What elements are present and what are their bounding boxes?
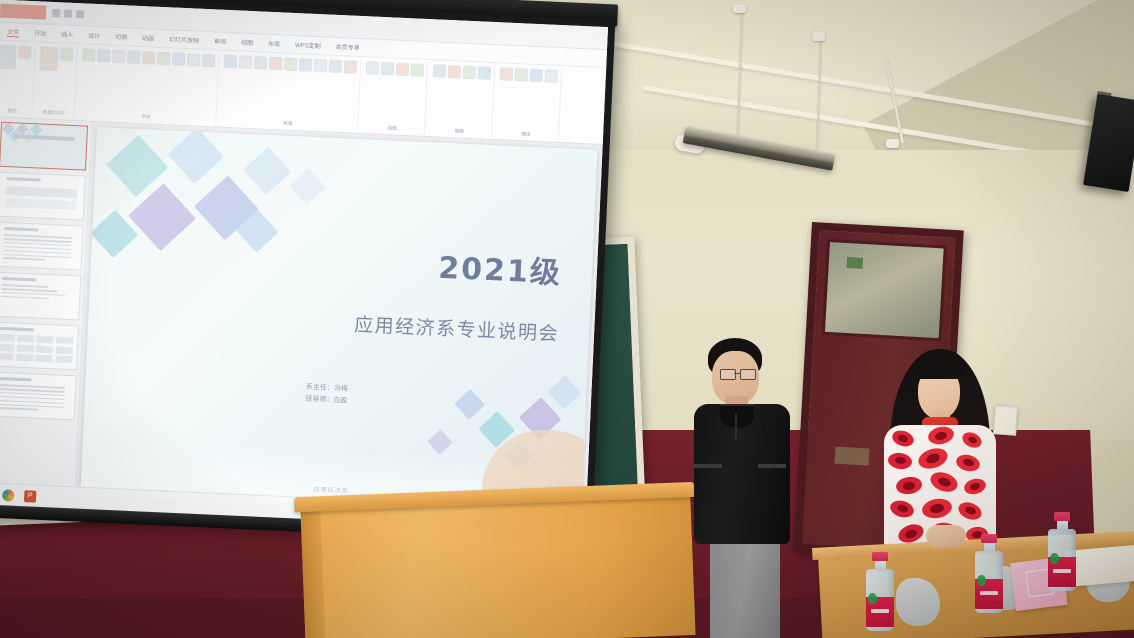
ribbon-tab-9[interactable]: 布局	[268, 39, 280, 49]
ribbon-group-label: 输出	[521, 131, 530, 137]
light-ceiling-mount	[812, 32, 825, 41]
active-slide: 2021级 应用经济系专业说明会 系主任：冯梅班导师：白盈 应用经济系	[80, 127, 597, 520]
thumbnail-table-cell	[17, 335, 34, 343]
woman-clasped-hands	[926, 525, 966, 547]
water-bottle[interactable]	[1048, 512, 1076, 591]
ribbon-button-icon[interactable]	[60, 47, 74, 61]
ribbon-button-icon[interactable]	[157, 52, 171, 66]
slide-thumbnail-1[interactable]: 1	[0, 121, 88, 170]
bottle-body	[866, 569, 894, 631]
ribbon-tab-10[interactable]: WPS定制	[295, 40, 321, 50]
quick-access-toolbar[interactable]	[52, 9, 84, 18]
thumbnail-text-line	[0, 407, 38, 410]
ribbon-button-icon[interactable]	[112, 50, 126, 64]
ribbon-button-icon[interactable]	[329, 60, 343, 74]
ribbon-group-6[interactable]: 输出	[494, 65, 562, 140]
ribbon-button-icon[interactable]	[463, 66, 477, 80]
slide-editor[interactable]: 2021级 应用经济系专业说明会 系主任：冯梅班导师：白盈 应用经济系	[75, 122, 603, 526]
media-icon[interactable]	[2, 489, 15, 502]
ribbon-button-icon[interactable]	[381, 62, 395, 76]
ribbon-tab-0[interactable]: 文件	[7, 26, 19, 37]
ribbon-button-icon[interactable]	[224, 55, 238, 69]
ribbon-button-icon[interactable]	[344, 60, 358, 74]
ribbon-button-icon[interactable]	[39, 46, 58, 71]
ribbon-button-icon[interactable]	[478, 66, 492, 80]
ribbon-tab-7[interactable]: 审阅	[214, 36, 226, 46]
ribbon-group-4[interactable]: 绘图	[360, 59, 428, 134]
ribbon-tab-8[interactable]: 视图	[241, 38, 253, 48]
ribbon-button-icon[interactable]	[254, 56, 268, 70]
ribbon-button-icon[interactable]	[284, 58, 298, 72]
slide-thumbnail-6[interactable]: 6	[0, 371, 77, 420]
ribbon-button-icon[interactable]	[433, 64, 447, 78]
man-sleeve-trim	[694, 464, 722, 468]
person-man	[686, 338, 796, 638]
slide-thumbnail-4[interactable]: 4	[0, 271, 81, 320]
ribbon-button-icon[interactable]	[142, 51, 156, 65]
thumbnail-table-cell	[0, 353, 14, 361]
ribbon-button-icon[interactable]	[18, 45, 32, 59]
ribbon-button-icon[interactable]	[127, 50, 141, 64]
thumbnail-preview	[0, 272, 81, 321]
thumbnail-header-line	[4, 227, 38, 231]
ribbon-button-icon[interactable]	[529, 69, 543, 83]
ribbon-group-0[interactable]: 粘贴	[0, 42, 36, 116]
thumbnail-table-cell	[55, 346, 72, 354]
ribbon-button-icon[interactable]	[448, 65, 462, 79]
powerpoint-icon[interactable]: P	[24, 490, 37, 503]
man-pants	[710, 538, 780, 638]
bottle-neck	[1057, 521, 1068, 529]
thumbnail-table-cell	[56, 337, 73, 345]
ribbon-button-icon[interactable]	[187, 53, 201, 67]
ribbon-tab-4[interactable]: 切换	[115, 32, 127, 42]
light-ceiling-mount	[733, 4, 746, 13]
thumbnail-band	[5, 198, 77, 211]
bottle-cap	[981, 534, 997, 543]
slide-thumbnail-5[interactable]: 5	[0, 321, 79, 370]
powerpoint-logo-icon	[0, 4, 46, 20]
thumbnail-text-line	[1, 296, 49, 300]
cable-anchor	[886, 139, 899, 148]
thumbnail-text-line	[1, 284, 49, 288]
thumbnail-table-cell	[16, 344, 33, 352]
bottle-body	[975, 551, 1003, 613]
ribbon-tab-2[interactable]: 插入	[61, 29, 73, 39]
ribbon-group-label: 粘贴	[7, 108, 16, 114]
ribbon-tab-3[interactable]: 设计	[88, 31, 100, 41]
slide-thumbnail-3[interactable]: 3	[0, 221, 84, 270]
water-bottle[interactable]	[975, 534, 1003, 613]
ribbon-tab-11[interactable]: 会员专享	[336, 42, 360, 52]
bottle-body	[1048, 529, 1076, 591]
ribbon-button-icon[interactable]	[269, 57, 283, 71]
ribbon-button-icon[interactable]	[544, 69, 558, 83]
bottle-neck	[984, 543, 995, 551]
ribbon-group-label: 段落	[283, 121, 292, 127]
thumbnail-preview	[0, 322, 79, 371]
thumbnail-header-line	[0, 377, 31, 381]
thumbnail-preview	[0, 371, 77, 420]
door-kick-plate	[835, 447, 870, 466]
man-shirt-placket	[735, 414, 737, 440]
ribbon-button-icon[interactable]	[515, 68, 529, 82]
ribbon-group-5[interactable]: 编辑	[427, 62, 495, 137]
thumbnail-header-line	[2, 277, 36, 281]
exit-sign-icon	[846, 257, 863, 269]
glasses-icon	[720, 369, 756, 378]
projected-image: 文件开始插入设计切换动画幻灯片放映审阅视图布局WPS定制会员专享 粘贴新建幻灯片…	[0, 0, 608, 533]
thumbnail-header-line	[0, 327, 34, 331]
thumbnail-table-cell	[36, 345, 53, 353]
thumbnail-text-line	[3, 257, 46, 260]
man-collar	[720, 404, 754, 428]
ribbon-button-icon[interactable]	[366, 61, 380, 75]
ribbon-button-icon[interactable]	[314, 59, 328, 73]
ribbon-button-icon[interactable]	[0, 45, 17, 70]
save-icon[interactable]	[52, 9, 60, 17]
bottle-label	[975, 579, 1003, 609]
ppt-workspace: 123456	[0, 117, 603, 525]
ribbon-button-icon[interactable]	[299, 58, 313, 72]
ribbon-button-icon[interactable]	[172, 52, 186, 66]
thumbnail-preview	[0, 172, 86, 221]
bottle-neck	[875, 561, 886, 569]
ribbon-tab-6[interactable]: 幻灯片放映	[169, 34, 199, 44]
classroom-photo-scene: 文件开始插入设计切换动画幻灯片放映审阅视图布局WPS定制会员专享 粘贴新建幻灯片…	[0, 0, 1134, 638]
slide-thumbnail-2[interactable]: 2	[0, 171, 86, 220]
thumbnail-band	[6, 186, 78, 198]
ribbon-button-icon[interactable]	[202, 54, 216, 68]
bottle-label	[866, 597, 894, 627]
ribbon-button-icon[interactable]	[82, 48, 96, 62]
bottle-cap	[1054, 512, 1070, 521]
thumbnail-table-cell	[35, 355, 52, 363]
cloth-bundle	[896, 578, 940, 626]
powerpoint-window: 文件开始插入设计切换动画幻灯片放映审阅视图布局WPS定制会员专享 粘贴新建幻灯片…	[0, 0, 608, 533]
undo-icon[interactable]	[64, 9, 72, 17]
ribbon-button-icon[interactable]	[500, 67, 514, 81]
ribbon-group-2[interactable]: 字体	[76, 46, 219, 124]
woman-bangs	[912, 357, 967, 379]
projector-screen: 文件开始插入设计切换动画幻灯片放映审阅视图布局WPS定制会员专享 粘贴新建幻灯片…	[0, 0, 615, 554]
man-sleeve-trim	[758, 464, 786, 468]
thumbnail-header-line	[6, 177, 40, 181]
thumbnail-table-cell	[16, 354, 33, 362]
thumbnail-preview	[0, 122, 88, 171]
thumbnail-preview	[0, 222, 84, 271]
bottle-cap	[872, 552, 888, 561]
ribbon-group-label: 绘图	[388, 125, 397, 131]
ribbon-group-label: 字体	[141, 114, 150, 120]
ribbon-tab-1[interactable]: 开始	[34, 28, 46, 38]
bottle-label	[1048, 557, 1076, 587]
wooden-podium	[300, 482, 697, 638]
ribbon-tab-5[interactable]: 动画	[142, 33, 154, 43]
ribbon-group-1[interactable]: 新建幻灯片	[34, 44, 77, 118]
ribbon-button-icon[interactable]	[97, 49, 111, 63]
ribbon-group-label: 新建幻灯片	[43, 110, 66, 117]
ribbon-button-icon[interactable]	[411, 63, 425, 77]
redo-icon[interactable]	[76, 10, 84, 18]
thumbnail-table-cell	[55, 356, 72, 364]
screen-frame: 文件开始插入设计切换动画幻灯片放映审阅视图布局WPS定制会员专享 粘贴新建幻灯片…	[0, 0, 615, 540]
thumbnail-table-cell	[0, 343, 14, 351]
podium-front-panel	[300, 495, 695, 638]
ribbon-button-icon[interactable]	[396, 63, 410, 77]
thumbnail-title-bar	[13, 134, 74, 141]
water-bottle[interactable]	[866, 552, 894, 631]
thumbnail-text-line	[0, 399, 64, 404]
ribbon-group-label: 编辑	[455, 128, 464, 134]
ribbon-group-3[interactable]: 段落	[218, 53, 361, 131]
thumbnail-table-cell	[0, 334, 15, 342]
door-glass-panel	[822, 239, 947, 342]
ribbon-button-icon[interactable]	[239, 55, 253, 69]
thumbnail-table-cell	[36, 336, 53, 344]
